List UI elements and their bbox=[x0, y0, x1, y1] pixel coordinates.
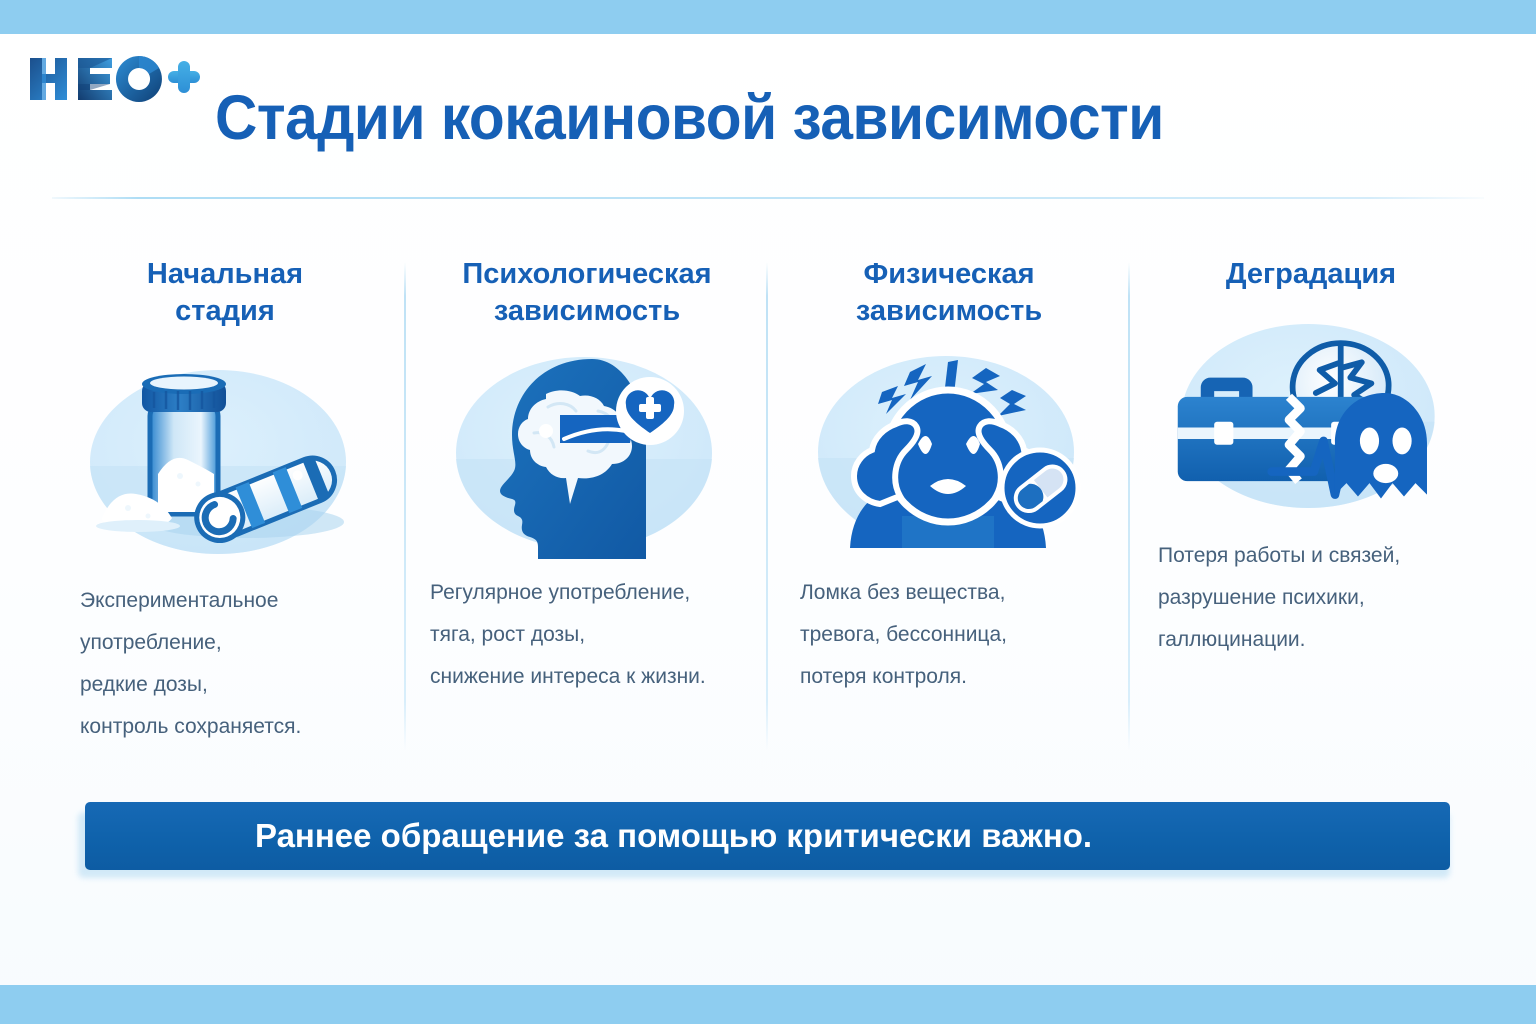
stage-heading-line: зависимость bbox=[494, 295, 680, 327]
stage-column-psychological: Психологическая зависимость bbox=[406, 252, 768, 762]
description-line: галлюцинации. bbox=[1158, 619, 1468, 661]
page-title: Стадии кокаиновой зависимости bbox=[215, 78, 1238, 158]
stage-description: Регулярное употребление, тяга, рост дозы… bbox=[430, 572, 748, 698]
description-line: контроль сохраняется. bbox=[80, 706, 380, 748]
description-line: употребление, bbox=[80, 622, 380, 664]
description-line: Ломка без вещества, bbox=[800, 572, 1100, 614]
stages-columns: Начальная стадия bbox=[44, 252, 1492, 762]
description-line: Экспериментальное bbox=[80, 580, 380, 622]
stage-description: Потеря работы и связей, разрушение психи… bbox=[1158, 535, 1468, 661]
stage-column-initial: Начальная стадия bbox=[44, 252, 406, 762]
broken-briefcase-brain-ghost-icon bbox=[1172, 307, 1450, 525]
stage-heading-line: Физическая bbox=[863, 258, 1034, 290]
stage-description: Экспериментальное употребление, редкие д… bbox=[80, 580, 380, 748]
stage-heading-line: зависимость bbox=[856, 295, 1042, 327]
stage-heading-line: Деградация bbox=[1226, 258, 1396, 290]
stage-column-physical: Физическая зависимость bbox=[768, 252, 1130, 762]
stage-description: Ломка без вещества, тревога, бессонница,… bbox=[800, 572, 1100, 698]
description-line: Регулярное употребление, bbox=[430, 572, 748, 614]
stage-heading-line: Психологическая bbox=[462, 258, 711, 290]
description-line: потеря контроля. bbox=[800, 656, 1100, 698]
stage-column-degradation: Деградация bbox=[1130, 252, 1492, 762]
stage-heading-line: стадия bbox=[175, 295, 275, 327]
stage-heading: Начальная стадия bbox=[147, 256, 303, 330]
top-accent-bar bbox=[0, 0, 1536, 34]
description-line: тревога, бессонница, bbox=[800, 614, 1100, 656]
stage-heading: Деградация bbox=[1226, 256, 1396, 293]
infographic-page: Стадии кокаиновой зависимости Начальная … bbox=[0, 0, 1536, 1024]
title-divider bbox=[52, 197, 1484, 199]
cta-banner-text: Раннее обращение за помощью критически в… bbox=[255, 802, 1092, 870]
neo-plus-logo[interactable] bbox=[26, 52, 201, 107]
stage-heading: Физическая зависимость bbox=[856, 256, 1042, 330]
cta-banner[interactable]: Раннее обращение за помощью критически в… bbox=[85, 802, 1450, 870]
stage-heading-line: Начальная bbox=[147, 258, 303, 290]
headache-person-pill-icon bbox=[810, 344, 1088, 562]
description-line: Потеря работы и связей, bbox=[1158, 535, 1468, 577]
head-brain-heart-icon bbox=[448, 344, 726, 562]
stage-heading: Психологическая зависимость bbox=[462, 256, 711, 330]
description-line: разрушение психики, bbox=[1158, 577, 1468, 619]
description-line: тяга, рост дозы, bbox=[430, 614, 748, 656]
description-line: снижение интереса к жизни. bbox=[430, 656, 748, 698]
description-line: редкие дозы, bbox=[80, 664, 380, 706]
bottom-accent-bar bbox=[0, 985, 1536, 1024]
pill-jar-powder-icon bbox=[86, 352, 364, 570]
